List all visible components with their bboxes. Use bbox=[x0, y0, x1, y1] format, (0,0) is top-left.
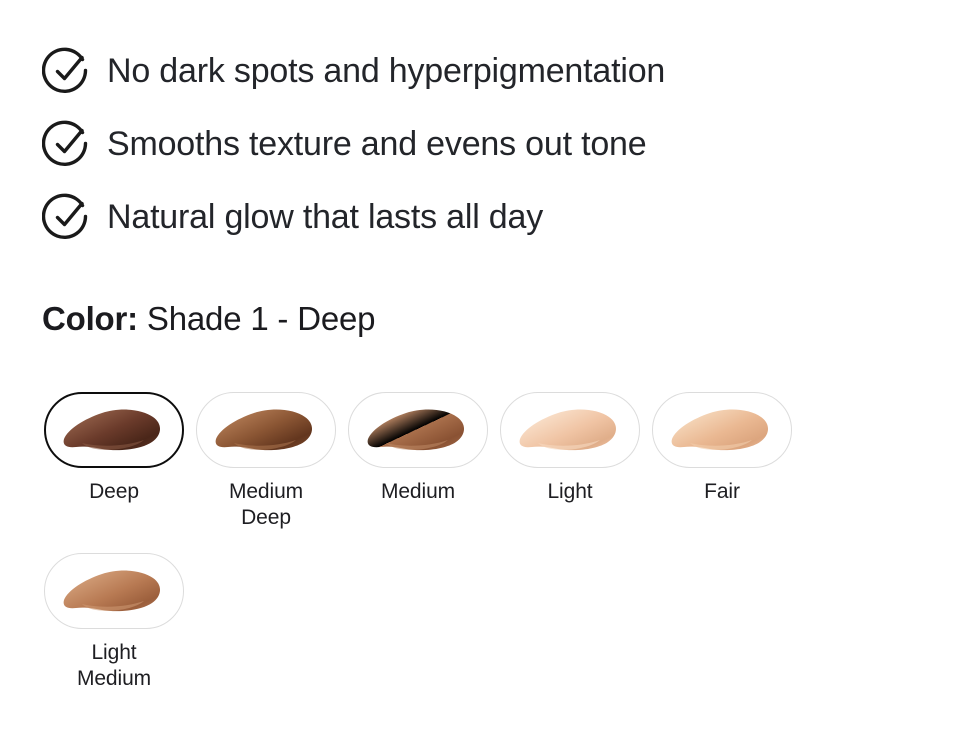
benefit-text: Natural glow that lasts all day bbox=[107, 200, 543, 234]
check-circle-icon bbox=[42, 192, 92, 242]
swatch-tile[interactable] bbox=[652, 392, 792, 468]
benefit-text: No dark spots and hyperpigmentation bbox=[107, 54, 665, 88]
color-swatch-light-medium[interactable]: Light Medium bbox=[44, 553, 184, 692]
foundation-smear-icon bbox=[362, 402, 474, 458]
color-swatch-medium-deep[interactable]: Medium Deep bbox=[196, 392, 336, 531]
color-heading: Color: Shade 1 - Deep bbox=[42, 302, 375, 335]
swatch-tile[interactable] bbox=[44, 553, 184, 629]
color-swatch-light[interactable]: Light bbox=[500, 392, 640, 531]
foundation-smear-icon bbox=[514, 402, 626, 458]
check-circle-icon bbox=[42, 46, 92, 96]
color-swatch-fair[interactable]: Fair bbox=[652, 392, 792, 531]
color-label: Color: bbox=[42, 300, 147, 337]
benefit-item: Smooths texture and evens out tone bbox=[42, 107, 922, 180]
benefit-text: Smooths texture and evens out tone bbox=[107, 127, 646, 161]
check-circle-icon bbox=[42, 119, 92, 169]
swatch-tile[interactable] bbox=[348, 392, 488, 468]
swatch-tile[interactable] bbox=[44, 392, 184, 468]
swatch-tile[interactable] bbox=[196, 392, 336, 468]
color-swatch-deep[interactable]: Deep bbox=[44, 392, 184, 531]
foundation-smear-icon bbox=[58, 402, 170, 458]
swatch-label: Medium bbox=[381, 479, 455, 505]
color-selected-value: Shade 1 - Deep bbox=[147, 300, 375, 337]
color-swatch-grid: Deep Medium Deep bbox=[44, 392, 924, 714]
benefit-item: No dark spots and hyperpigmentation bbox=[42, 34, 922, 107]
swatch-label: Deep bbox=[89, 479, 139, 505]
foundation-smear-icon bbox=[666, 402, 778, 458]
benefits-list: No dark spots and hyperpigmentation Smoo… bbox=[42, 34, 922, 253]
foundation-smear-icon bbox=[58, 563, 170, 619]
swatch-label: Light bbox=[547, 479, 592, 505]
swatch-label: Medium Deep bbox=[229, 479, 303, 531]
swatch-label: Fair bbox=[704, 479, 740, 505]
color-swatch-medium[interactable]: Medium bbox=[348, 392, 488, 531]
swatch-label: Light Medium bbox=[77, 640, 151, 692]
foundation-smear-icon bbox=[210, 402, 322, 458]
swatch-tile[interactable] bbox=[500, 392, 640, 468]
benefit-item: Natural glow that lasts all day bbox=[42, 180, 922, 253]
